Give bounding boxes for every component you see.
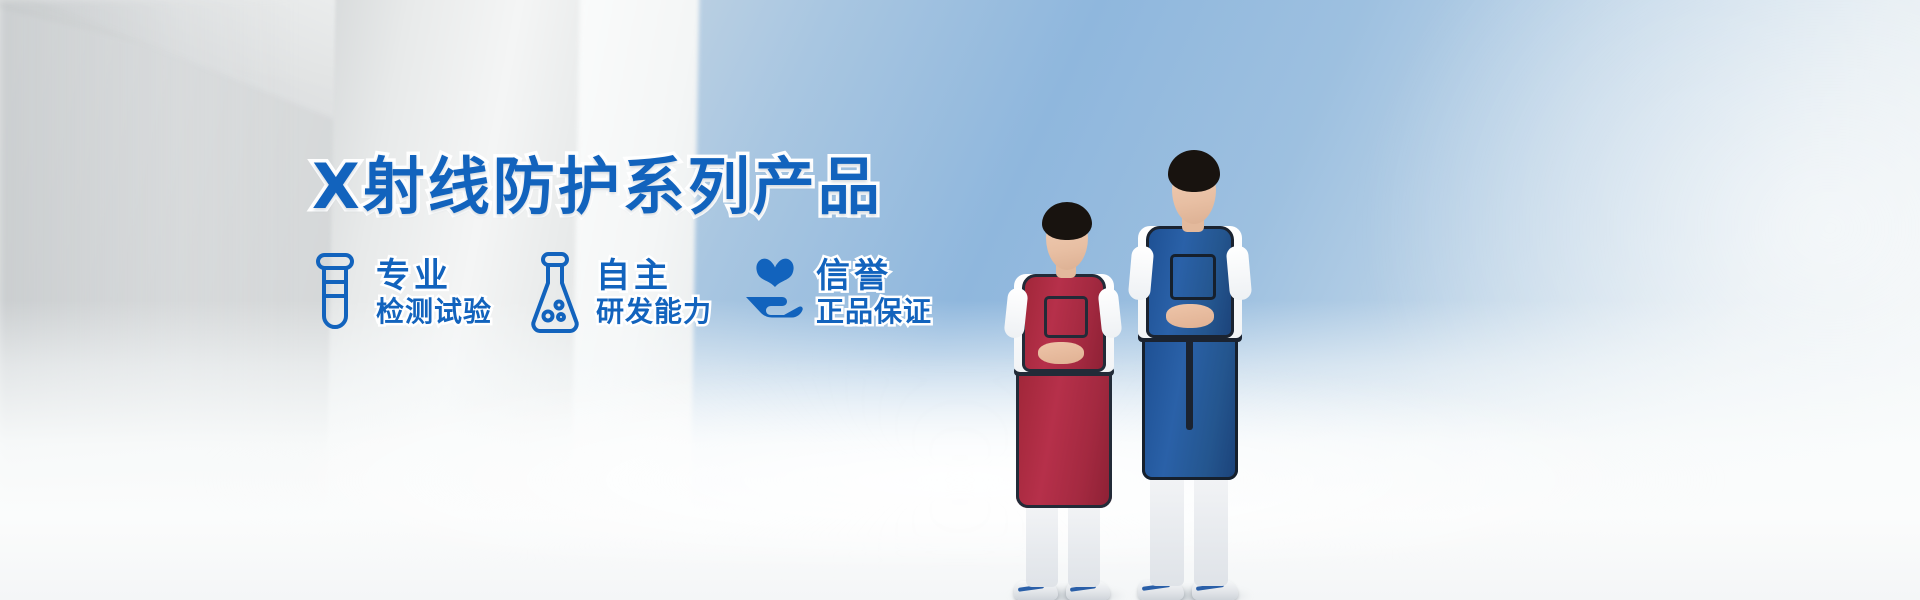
trousers-right bbox=[1194, 466, 1228, 586]
arm-right bbox=[1097, 287, 1122, 339]
feature-item-rnd: 自主 研发能力 bbox=[526, 250, 712, 336]
erlenmeyer-flask-icon bbox=[526, 250, 584, 336]
apron-pocket bbox=[1170, 254, 1216, 300]
hands-clasped bbox=[1166, 304, 1214, 328]
feature-text-rnd: 自主 研发能力 bbox=[596, 259, 712, 326]
page-title: X射线防护系列产品 bbox=[312, 136, 883, 226]
feature-text-professional: 专业 检测试验 bbox=[376, 259, 492, 326]
heart-in-hand-icon bbox=[746, 250, 804, 336]
background-scene bbox=[0, 0, 1920, 600]
model-photo-group bbox=[1000, 80, 1300, 600]
feature-text-reputation: 信誉 正品保证 bbox=[816, 259, 932, 326]
feature-title: 信誉 bbox=[816, 259, 932, 294]
feature-list: 专业 检测试验 自主 研发能力 bbox=[306, 250, 932, 336]
trousers-left bbox=[1150, 466, 1184, 586]
floor-glow bbox=[192, 360, 1728, 560]
male-model bbox=[1128, 120, 1258, 600]
hands-clasped bbox=[1038, 342, 1084, 364]
feature-subtitle: 检测试验 bbox=[376, 298, 492, 327]
hair bbox=[1042, 202, 1092, 240]
hero-banner: X射线防护系列产品 专业 检测试验 bbox=[0, 0, 1920, 600]
feature-item-professional: 专业 检测试验 bbox=[306, 250, 492, 336]
test-tube-icon bbox=[306, 250, 364, 336]
feature-title: 专业 bbox=[376, 259, 492, 294]
female-model bbox=[1000, 180, 1140, 600]
feature-subtitle: 研发能力 bbox=[596, 298, 712, 327]
trousers-left bbox=[1026, 497, 1058, 587]
apron-skirt-trim bbox=[1016, 368, 1112, 508]
arm-right bbox=[1226, 245, 1253, 301]
feature-item-reputation: 信誉 正品保证 bbox=[746, 250, 932, 336]
apron-belt-tail bbox=[1186, 334, 1193, 430]
hair bbox=[1168, 150, 1220, 192]
feature-subtitle: 正品保证 bbox=[816, 298, 932, 327]
apron-pocket bbox=[1044, 296, 1088, 338]
trousers-right bbox=[1068, 497, 1100, 587]
feature-title: 自主 bbox=[596, 259, 712, 294]
